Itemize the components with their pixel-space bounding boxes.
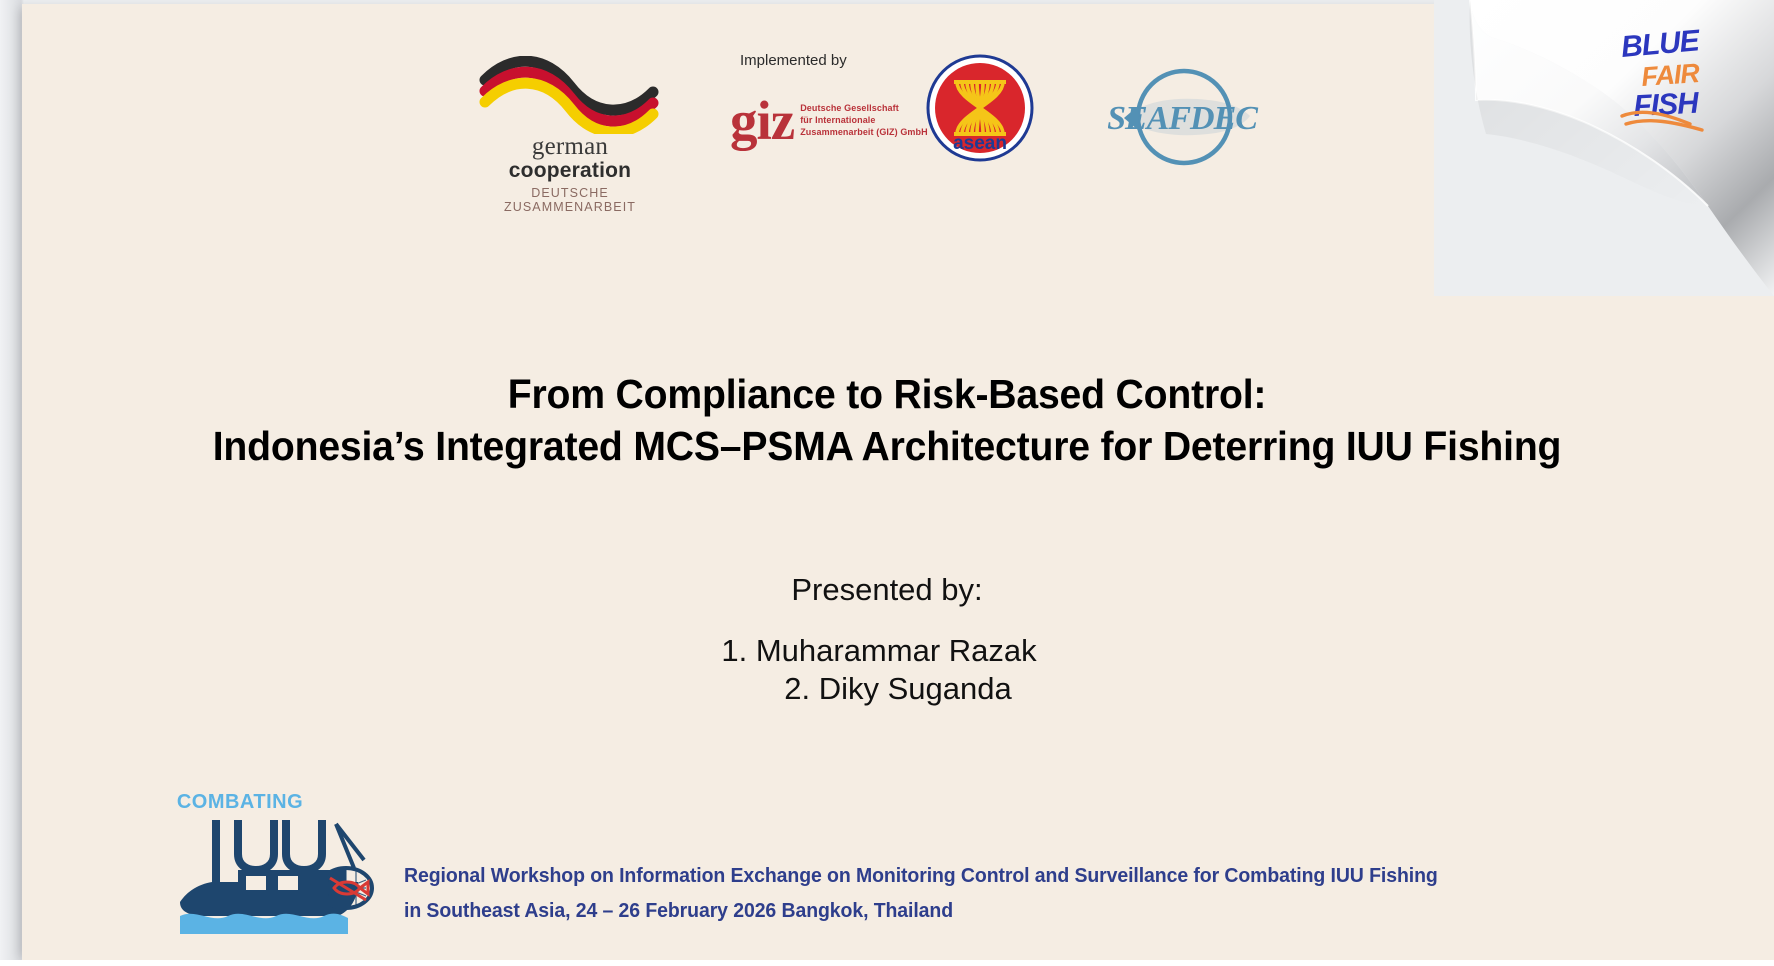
partner-logo-row: german cooperation DEUTSCHE ZUSAMMENARBE… xyxy=(0,34,1300,174)
giz-description: Deutsche Gesellschaft für Internationale… xyxy=(800,103,928,139)
implemented-by-label: Implemented by xyxy=(740,52,940,69)
presentation-slide: BLUE FAIR FISH german cooperation DEUTSC… xyxy=(0,0,1774,966)
footer-event-info: Regional Workshop on Information Exchang… xyxy=(404,858,1704,929)
blue-fair-fish-logo: BLUE FAIR FISH xyxy=(1616,24,1738,136)
page-title: From Compliance to Risk-Based Control: I… xyxy=(0,368,1774,472)
german-cooperation-line1: german xyxy=(470,134,670,159)
list-item: 2. Diky Suganda xyxy=(0,670,1774,708)
giz-logo: Implemented by giz Deutsche Gesellschaft… xyxy=(730,52,940,143)
slide-bottom-edge xyxy=(0,960,1774,966)
german-cooperation-line2: cooperation xyxy=(470,159,670,183)
presenter-list: 1. Muharammar Razak 2. Diky Suganda xyxy=(0,632,1774,708)
combating-label: COMBATING xyxy=(177,791,303,813)
seafdec-logo: SEAFDEC xyxy=(1108,62,1260,172)
combating-iuu-logo: COMBATING xyxy=(168,784,380,944)
title-line-2: Indonesia’s Integrated MCS–PSMA Architec… xyxy=(86,420,1688,472)
german-cooperation-line3: DEUTSCHE ZUSAMMENARBEIT xyxy=(470,186,670,214)
asean-wordmark: asean xyxy=(953,133,1007,154)
asean-logo: asean xyxy=(926,54,1034,162)
german-flag-ribbon-icon xyxy=(477,56,663,134)
german-cooperation-logo: german cooperation DEUTSCHE ZUSAMMENARBE… xyxy=(470,56,670,214)
footer-line-2: in Southeast Asia, 24 – 26 February 2026… xyxy=(404,893,1639,928)
title-line-1: From Compliance to Risk-Based Control: xyxy=(86,368,1688,420)
list-item: 1. Muharammar Razak xyxy=(0,632,1774,670)
presented-by-heading: Presented by: xyxy=(0,572,1774,608)
giz-wordmark: giz xyxy=(730,99,794,143)
footer-line-1: Regional Workshop on Information Exchang… xyxy=(404,858,1639,893)
